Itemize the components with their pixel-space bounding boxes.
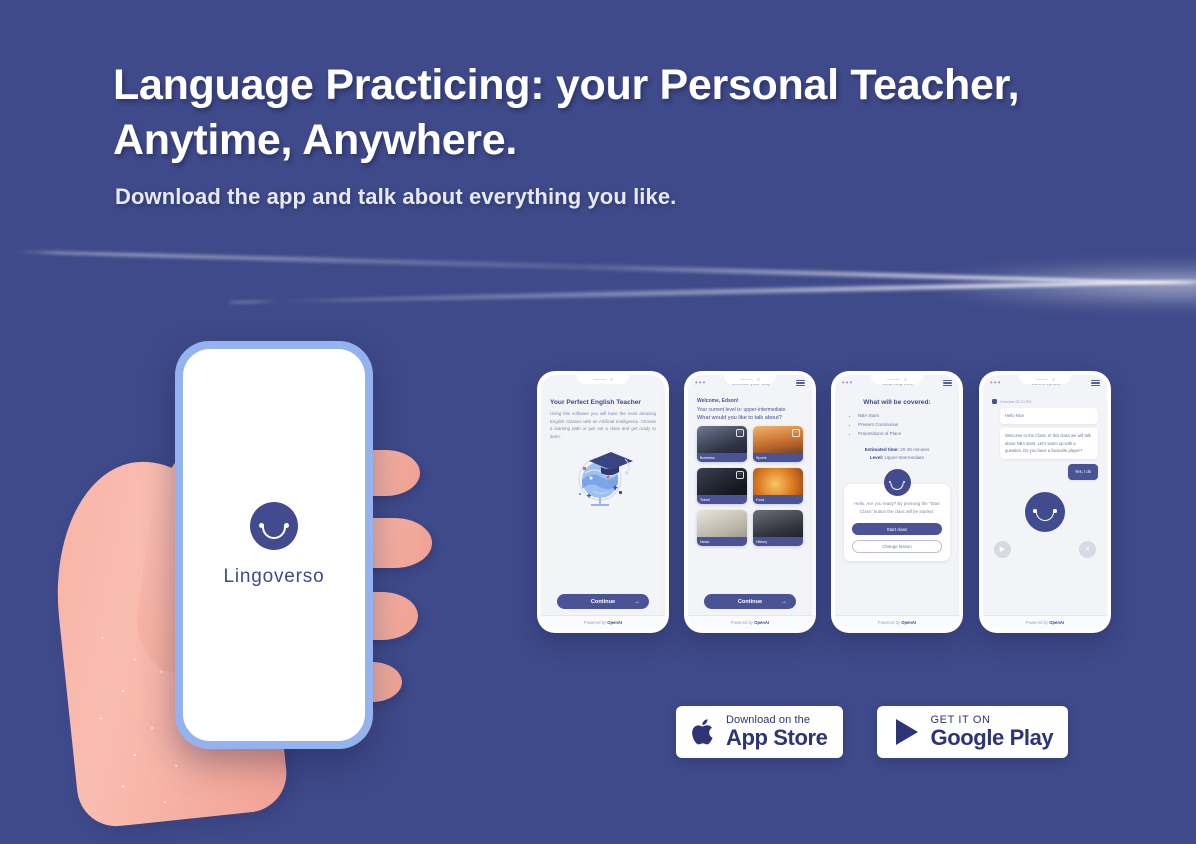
powered-by-label: Powered by OpenAI (584, 620, 622, 625)
phone-notch (724, 375, 776, 384)
menu-icon[interactable] (1091, 380, 1100, 386)
phone-notch (577, 375, 629, 384)
mascot-smiley-icon (250, 502, 298, 550)
more-options-icon[interactable]: ••• (842, 379, 853, 387)
heart-icon[interactable]: ♡ (736, 429, 744, 437)
topic-card[interactable]: History (753, 510, 803, 546)
headline-line-2: Anytime, Anywhere. (113, 113, 1113, 168)
mockup-choose-topic: ••• Choose your way Welcome, Edson! Your… (684, 371, 816, 633)
topic-card[interactable]: ♡ Business (697, 426, 747, 462)
estimated-time-row: Estimated time: 20-35 minutes (844, 446, 950, 455)
mascot-smiley-icon (1025, 492, 1065, 532)
main-phone-device: Lingoverso (175, 341, 373, 749)
mockup-live-chat: ••• Lorem Ipsum Livechat 02:10 PM Hello … (979, 371, 1111, 633)
topic-card[interactable]: ♡ Sports (753, 426, 803, 462)
lesson-prompt: Hello. Are you ready? By pressing the "S… (852, 500, 942, 516)
menu-icon[interactable] (796, 380, 805, 386)
list-item: NBA Stars (858, 411, 950, 420)
list-item: Present Continuous (858, 420, 950, 429)
google-play-icon (892, 716, 922, 748)
greeting-text: Welcome, Edson! (697, 397, 803, 406)
chat-message-user: Hello Nice (1000, 408, 1098, 424)
mascot-smiley-icon (884, 469, 911, 496)
page-title: Language Practicing: your Personal Teach… (113, 58, 1113, 168)
topic-card[interactable]: ♡ Travel (697, 468, 747, 504)
continue-label: Continue (738, 599, 762, 605)
topic-label: Sports (753, 453, 803, 462)
store-badges: Download on the App Store GET IT ON Goog… (676, 706, 1068, 758)
chat-status-icon (992, 399, 997, 404)
app-store-label: App Store (726, 726, 828, 749)
phone-notch (1019, 375, 1071, 384)
globe-graduation-icon (567, 447, 639, 509)
menu-icon[interactable] (943, 380, 952, 386)
heart-icon[interactable]: ♡ (736, 471, 744, 479)
topic-question: What would you like to talk about? (697, 415, 803, 421)
continue-label: Continue (591, 599, 615, 605)
google-play-label: Google Play (931, 726, 1054, 749)
level-text: Your current level is: upper-intermediat… (697, 406, 803, 415)
main-phone-screen: Lingoverso (183, 349, 365, 741)
arrow-right-icon: → (634, 599, 640, 605)
topics-continue-button[interactable]: Continue → (704, 594, 796, 609)
mockup-onboarding: Your Perfect English Teacher Using this … (537, 371, 669, 633)
start-class-button[interactable]: Start class (852, 523, 942, 535)
topic-card[interactable]: Food (753, 468, 803, 504)
powered-by-label: Powered by OpenAI (878, 620, 916, 625)
google-play-button[interactable]: GET IT ON Google Play (877, 706, 1069, 758)
topic-label: News (697, 537, 747, 546)
more-options-icon[interactable]: ••• (695, 379, 706, 387)
arrow-right-icon: → (781, 599, 787, 605)
session-label: Livechat 02:10 PM (1000, 400, 1031, 404)
mockup-lesson-preview: ••• Learning time What will be covered: … (831, 371, 963, 633)
topic-card[interactable]: News (697, 510, 747, 546)
onboarding-body: Using this software you will have the mo… (550, 410, 656, 441)
page-subtitle: Download the app and talk about everythi… (115, 184, 1015, 210)
phone-notch (871, 375, 923, 384)
topic-grid: ♡ Business ♡ Sports ♡ Travel (697, 426, 803, 546)
onboarding-continue-button[interactable]: Continue → (557, 594, 649, 609)
powered-by-label: Powered by OpenAI (731, 620, 769, 625)
light-streak-glow (916, 262, 1196, 308)
chat-message-user: Yes, I do (1068, 464, 1098, 480)
app-store-button[interactable]: Download on the App Store (676, 706, 843, 758)
promo-banner: Language Practicing: your Personal Teach… (0, 0, 1196, 844)
headline-line-1: Language Practicing: your Personal Teach… (113, 58, 1113, 113)
more-options-icon[interactable]: ••• (990, 379, 1001, 387)
lesson-heading: What will be covered: (844, 399, 950, 406)
lesson-meta: Estimated time: 20-35 minutes Level: Upp… (844, 446, 950, 463)
topic-label: Business (697, 453, 747, 462)
chat-controls: ▶ ✕ (992, 541, 1098, 558)
brand-name: Lingoverso (224, 566, 325, 588)
apple-icon (691, 717, 717, 747)
level-row: Level: Upper-Intermediate (844, 454, 950, 463)
lesson-topics-list: NBA Stars Present Continuous Preposition… (858, 411, 950, 439)
play-icon[interactable]: ▶ (994, 541, 1011, 558)
topic-label: Travel (697, 495, 747, 504)
chat-message-bot: Welcome to the Class. In this class we w… (1000, 428, 1098, 459)
powered-by-label: Powered by OpenAI (1026, 620, 1064, 625)
chat-session-info: Livechat 02:10 PM (992, 399, 1098, 404)
topic-label: Food (753, 495, 803, 504)
change-lesson-button[interactable]: Change lesson (852, 540, 942, 553)
heart-icon[interactable]: ♡ (792, 429, 800, 437)
list-item: Prepositions of Place (858, 429, 950, 438)
topic-label: History (753, 537, 803, 546)
close-icon[interactable]: ✕ (1079, 541, 1096, 558)
onboarding-heading: Your Perfect English Teacher (550, 399, 656, 406)
